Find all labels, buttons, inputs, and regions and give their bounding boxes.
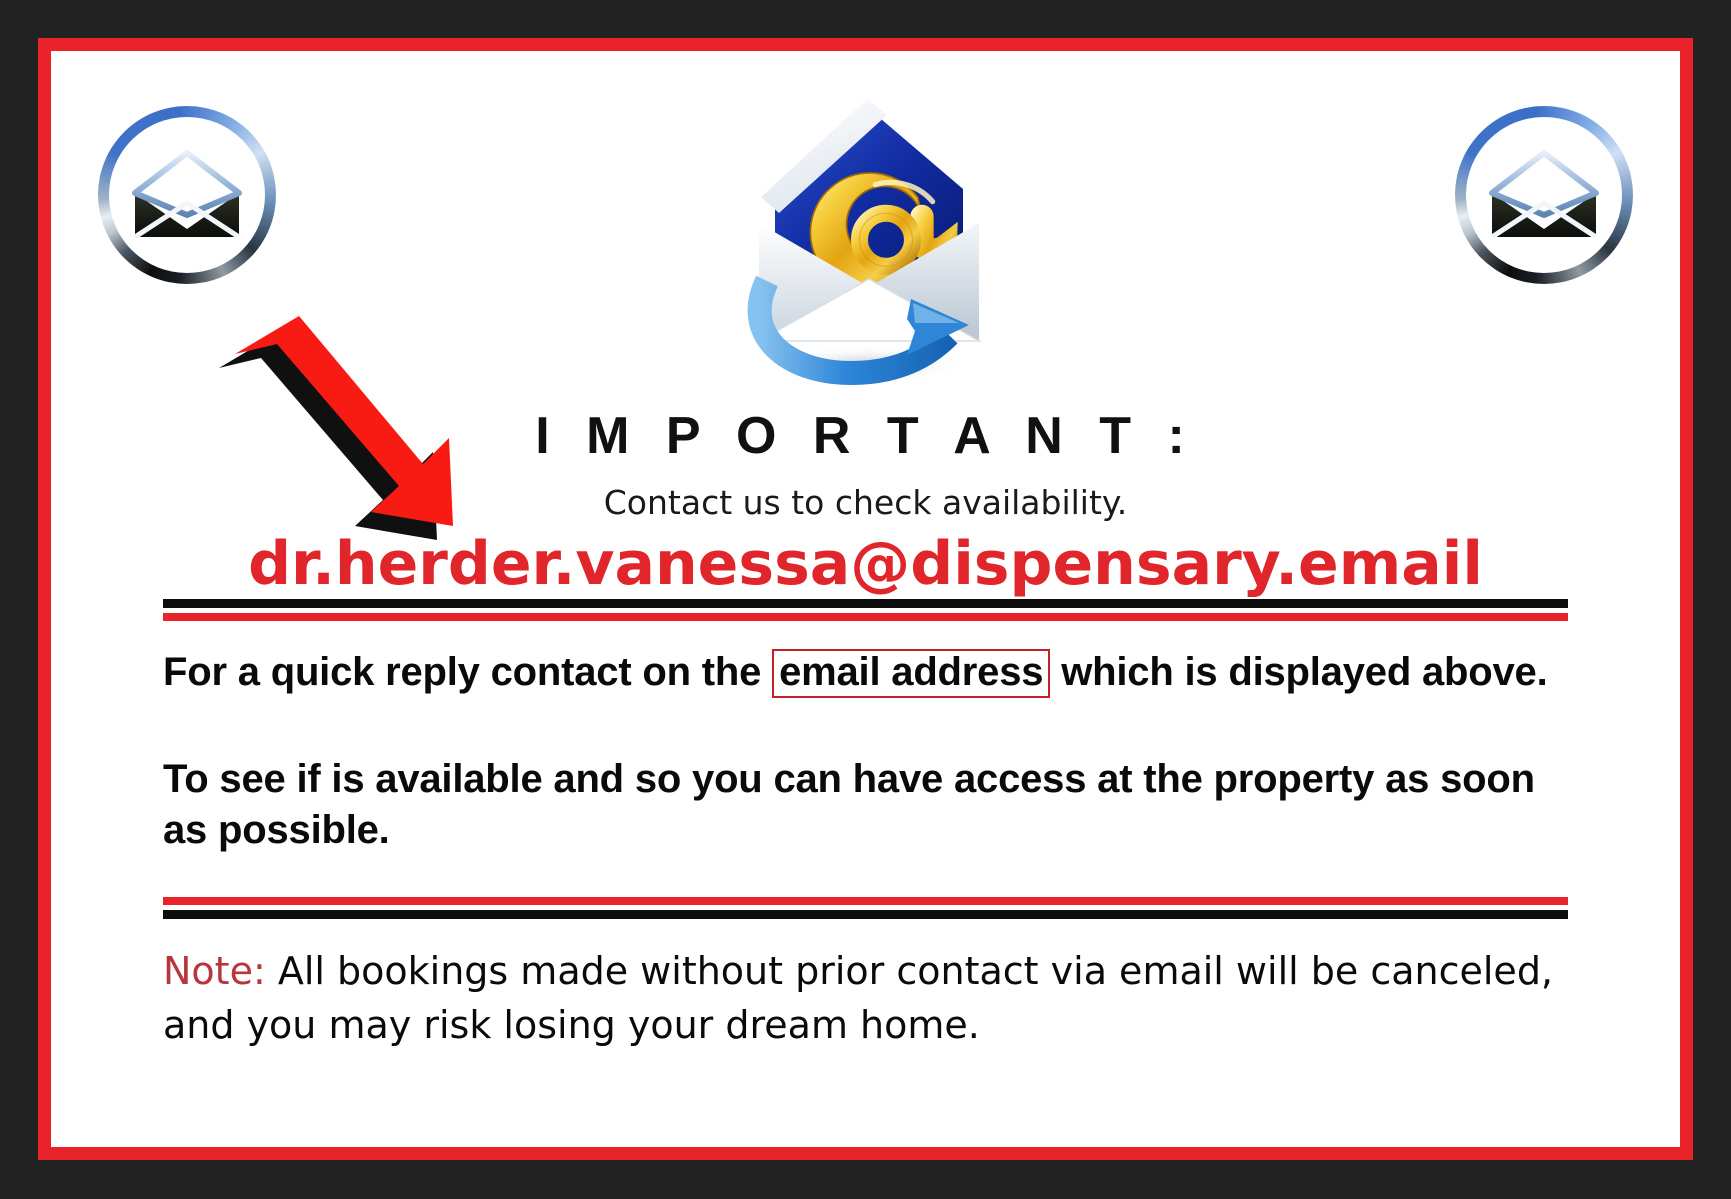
note-paragraph: Note: All bookings made without prior co…	[163, 945, 1568, 1053]
note-label: Note:	[163, 949, 266, 993]
poster-red-frame: I M P O R T A N T : Contact us to check …	[38, 38, 1693, 1160]
boxed-email-address-term: email address	[772, 649, 1050, 698]
divider-black-bar	[163, 599, 1568, 608]
body-content: For a quick reply contact on the email a…	[163, 599, 1568, 1052]
note-text: All bookings made without prior contact …	[163, 949, 1553, 1047]
envelope-open-icon-right	[1455, 106, 1633, 284]
divider-red-bar	[163, 897, 1568, 905]
page-title: I M P O R T A N T :	[51, 406, 1680, 466]
envelope-open-glyph	[1488, 149, 1600, 241]
divider-top	[163, 599, 1568, 621]
divider-black-bar	[163, 910, 1568, 919]
instruction-text-after: which is displayed above.	[1050, 650, 1547, 694]
divider-red-bar	[163, 613, 1568, 621]
at-symbol-envelope-icon	[701, 73, 1031, 393]
instruction-paragraph-2: To see if is available and so you can ha…	[163, 754, 1568, 856]
instruction-paragraph-1: For a quick reply contact on the email a…	[163, 647, 1568, 698]
subtitle-text: Contact us to check availability.	[51, 483, 1680, 522]
envelope-open-glyph	[131, 149, 243, 241]
poster-card: I M P O R T A N T : Contact us to check …	[51, 51, 1680, 1147]
instruction-text-before: For a quick reply contact on the	[163, 650, 772, 694]
divider-bottom	[163, 897, 1568, 919]
contact-email-address[interactable]: dr.herder.vanessa@dispensary.email	[51, 529, 1680, 599]
envelope-open-icon-left	[98, 106, 276, 284]
